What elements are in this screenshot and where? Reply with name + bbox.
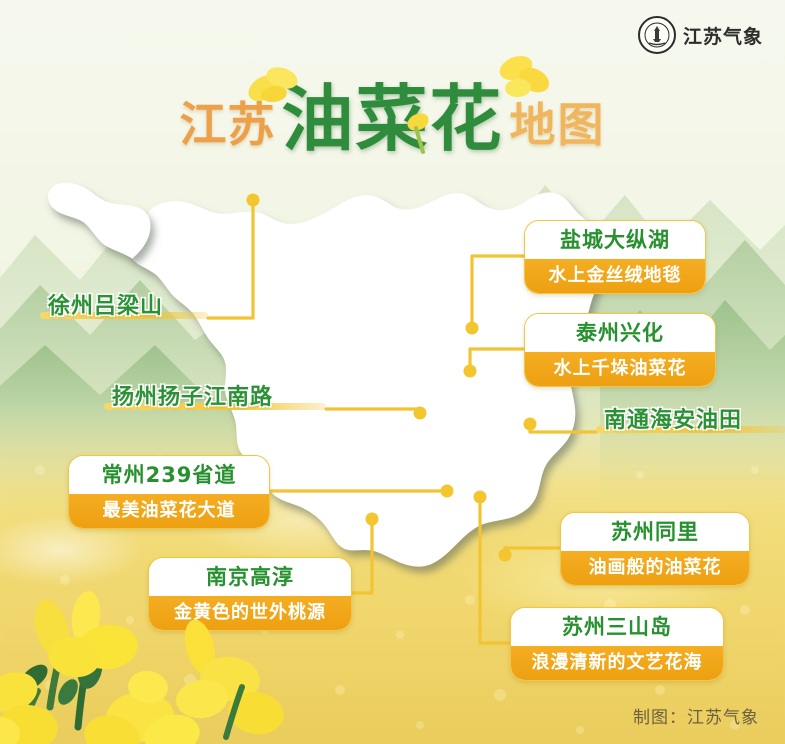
connector-dot [414, 407, 427, 420]
spot-card-suzhou-tongli[interactable]: 苏州同里 油画般的油菜花 [560, 512, 750, 586]
spot-card-taizhou[interactable]: 泰州兴化 水上千垛油菜花 [524, 313, 716, 387]
province-northwest-lobe [49, 183, 150, 258]
conn-tongli [505, 548, 560, 555]
connector-dot [524, 418, 537, 431]
spot-label-yangzhou[interactable]: 扬州扬子江南路 [112, 379, 273, 411]
connector-dot [441, 485, 454, 498]
card-subtitle: 油画般的油菜花 [561, 551, 749, 585]
card-subtitle: 最美油菜花大道 [69, 494, 269, 528]
spot-label-xuzhou[interactable]: 徐州吕梁山 [48, 288, 163, 320]
card-title: 盐城大纵湖 [525, 221, 705, 259]
card-subtitle: 浪漫清新的文艺花海 [511, 646, 723, 680]
connector-dot [247, 194, 260, 207]
rapeseed-flowers-illustration [0, 587, 320, 744]
connector-dot [466, 322, 479, 335]
spot-card-suzhou-sanshandao[interactable]: 苏州三山岛 浪漫清新的文艺花海 [510, 607, 724, 681]
card-title: 泰州兴化 [525, 314, 715, 352]
connector-dot [464, 365, 477, 378]
card-title: 苏州同里 [561, 513, 749, 551]
spot-card-yancheng[interactable]: 盐城大纵湖 水上金丝绒地毯 [524, 220, 706, 294]
card-title: 苏州三山岛 [511, 608, 723, 646]
connector-dot [474, 491, 487, 504]
card-subtitle: 水上金丝绒地毯 [525, 259, 705, 293]
spot-label-nantong[interactable]: 南通海安油田 [604, 402, 742, 434]
connector-dot [499, 549, 512, 562]
card-subtitle: 水上千垛油菜花 [525, 352, 715, 386]
credit-text: 制图：江苏气象 [633, 703, 759, 728]
card-title: 常州239省道 [69, 456, 269, 494]
spot-card-changzhou[interactable]: 常州239省道 最美油菜花大道 [68, 455, 270, 529]
poster-root: 江苏气象 江苏 油菜花 地图 [0, 0, 785, 744]
connector-dot [366, 513, 379, 526]
